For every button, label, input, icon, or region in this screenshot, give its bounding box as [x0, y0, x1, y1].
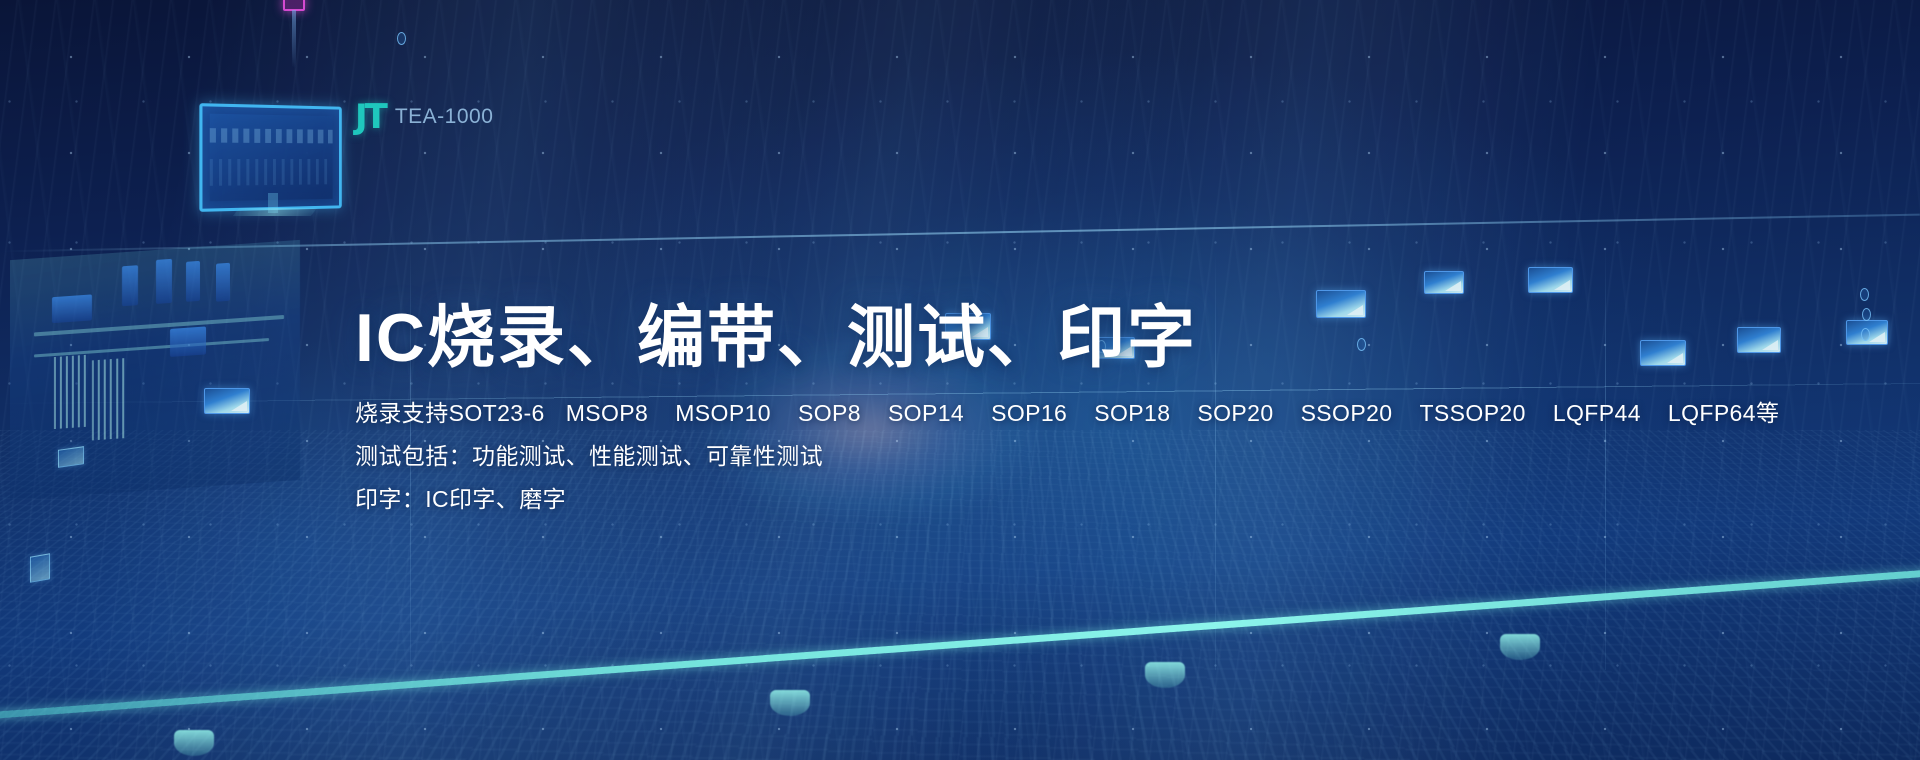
tray-graphic: [30, 553, 50, 583]
floating-dot-icon: [1860, 288, 1869, 301]
floating-panel-icon: [204, 388, 250, 414]
floating-dot-icon: [1862, 308, 1871, 321]
rail-support-foot: [770, 690, 810, 716]
package-chip-msop8: MSOP8: [566, 400, 649, 426]
rail-support-foot: [174, 730, 214, 756]
floating-panel-icon: [1737, 327, 1781, 353]
package-chip-lqfp64: LQFP64: [1668, 400, 1756, 426]
package-chip-sop18: SOP18: [1094, 400, 1170, 426]
package-chip-sop8: SOP8: [798, 400, 861, 426]
package-chip-tssop20: TSSOP20: [1419, 400, 1525, 426]
floating-panel-icon: [1528, 267, 1573, 293]
package-chip-sop14: SOP14: [888, 400, 964, 426]
package-list: MSOP8MSOP10SOP8SOP14SOP16SOP18SOP20SSOP2…: [545, 402, 1756, 425]
hero-banner: JT TEA-1000 IC烧录、编带、测试、印字 烧录支持SOT23-6 MS…: [0, 0, 1920, 760]
floating-panel-icon: [1640, 340, 1686, 366]
jt-logo: JT: [355, 100, 385, 134]
equipment-model-label: TEA-1000: [395, 105, 494, 129]
burn-support-line: 烧录支持SOT23-6 MSOP8MSOP10SOP8SOP14SOP16SOP…: [355, 402, 1615, 425]
hero-content: IC烧录、编带、测试、印字 烧录支持SOT23-6 MSOP8MSOP10SOP…: [355, 300, 1615, 531]
sensor-pole: [292, 10, 296, 68]
package-chip-lqfp44: LQFP44: [1553, 400, 1641, 426]
page-title: IC烧录、编带、测试、印字: [355, 300, 1615, 376]
monitor-screen: [210, 114, 333, 202]
hero-subtitle-block: 烧录支持SOT23-6 MSOP8MSOP10SOP8SOP14SOP16SOP…: [355, 402, 1615, 511]
rail-support-foot: [1145, 662, 1185, 688]
floating-dot-icon: [397, 32, 406, 45]
marking-scope-line: 印字：IC印字、磨字: [355, 488, 1615, 511]
tray-graphic: [58, 446, 84, 468]
test-scope-line: 测试包括：功能测试、性能测试、可靠性测试: [355, 445, 1615, 468]
floating-dot-icon: [1861, 328, 1870, 341]
rail-support-foot: [1500, 634, 1540, 660]
equipment-brand: JT TEA-1000: [355, 100, 493, 134]
package-list-suffix: 等: [1756, 402, 1779, 425]
package-chip-msop10: MSOP10: [675, 400, 771, 426]
monitor-base: [233, 208, 317, 216]
package-chip-ssop20: SSOP20: [1301, 400, 1393, 426]
package-chip-sop16: SOP16: [991, 400, 1067, 426]
package-chip-sop20: SOP20: [1197, 400, 1273, 426]
factory-machine-graphic: [10, 240, 300, 500]
floating-panel-icon: [1424, 271, 1464, 294]
burn-support-label: 烧录支持SOT23-6: [355, 402, 545, 425]
